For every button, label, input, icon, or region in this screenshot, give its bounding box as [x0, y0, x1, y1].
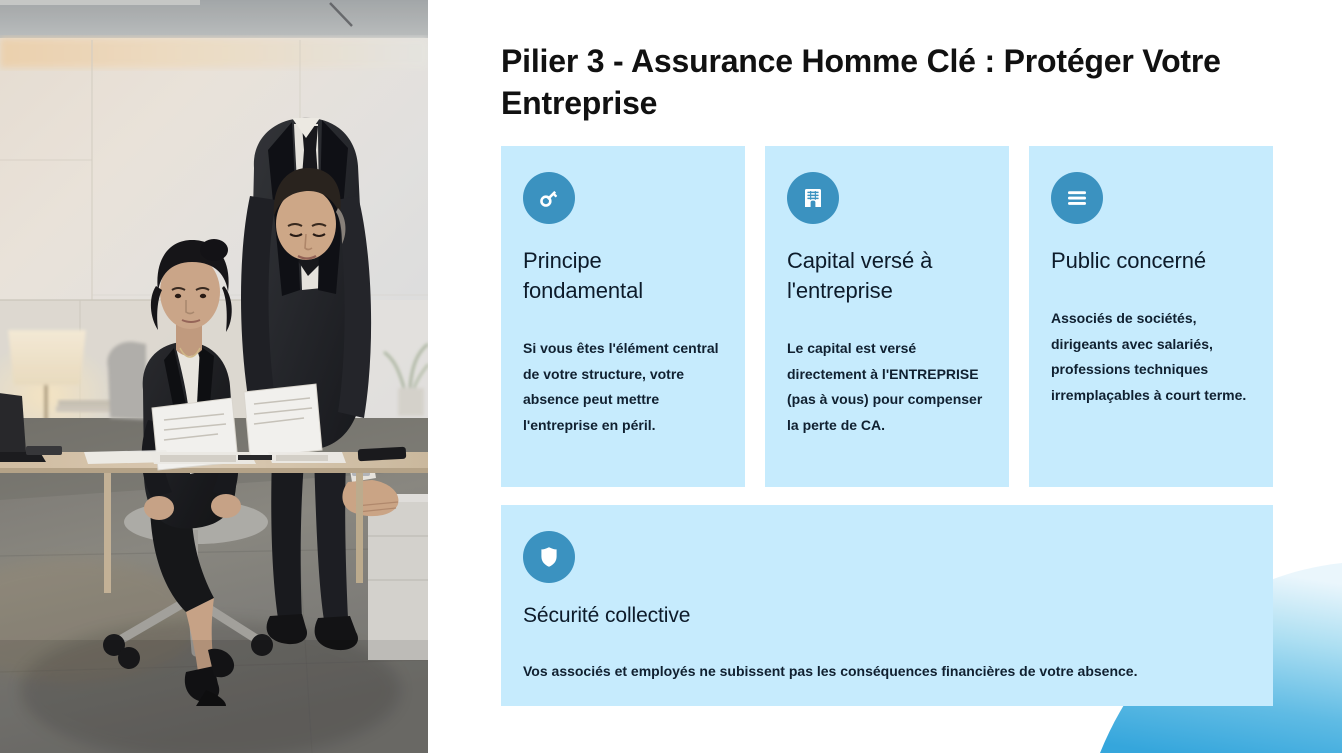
- page-title: Pilier 3 - Assurance Homme Clé : Protége…: [501, 40, 1291, 124]
- office-meeting-photo: [0, 0, 428, 753]
- shield-icon: [523, 531, 575, 583]
- card-heading: Principe fondamental: [523, 246, 723, 306]
- key-icon: [523, 172, 575, 224]
- building-icon: [787, 172, 839, 224]
- card-body: Associés de sociétés, dirigeants avec sa…: [1051, 306, 1251, 408]
- card-heading: Public concerné: [1051, 246, 1251, 276]
- feature-cards-row: Principe fondamental Si vous êtes l'élém…: [501, 146, 1273, 487]
- card-body: Le capital est versé directement à l'ENT…: [787, 336, 987, 438]
- content-panel: Pilier 3 - Assurance Homme Clé : Protége…: [428, 0, 1342, 753]
- list-lines-icon: [1051, 172, 1103, 224]
- feature-card-securite-collective[interactable]: Sécurité collective Vos associés et empl…: [501, 505, 1273, 706]
- card-heading: Capital versé à l'entreprise: [787, 246, 987, 306]
- card-body: Vos associés et employés ne subissent pa…: [523, 659, 1251, 685]
- feature-card-principe-fondamental[interactable]: Principe fondamental Si vous êtes l'élém…: [501, 146, 745, 487]
- card-body: Si vous êtes l'élément central de votre …: [523, 336, 723, 438]
- card-heading: Sécurité collective: [523, 601, 1251, 631]
- feature-card-public-concerne[interactable]: Public concerné Associés de sociétés, di…: [1029, 146, 1273, 487]
- feature-card-capital-verse[interactable]: Capital versé à l'entreprise Le capital …: [765, 146, 1009, 487]
